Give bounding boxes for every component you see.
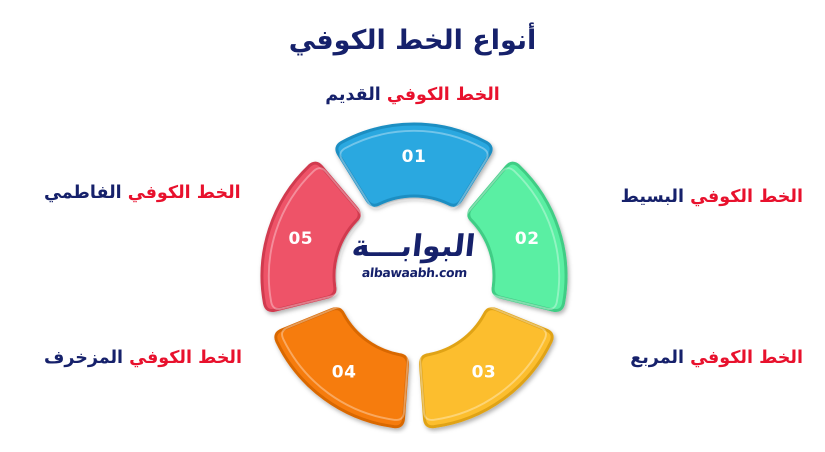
segment-label-03: الخط الكوفي المربع xyxy=(630,347,803,370)
donut-segment-number-02: 02 xyxy=(515,229,540,249)
donut-segments xyxy=(262,124,566,427)
infographic-canvas: أنواع الخط الكوفي الخط الكوفي القديم الخ… xyxy=(0,0,825,452)
segment-label-02-primary: الخط الكوفي xyxy=(690,187,803,207)
segment-label-04-secondary: المزخرف xyxy=(44,348,123,368)
donut-segment-number-01: 01 xyxy=(402,147,427,167)
donut-segment-number-04: 04 xyxy=(332,362,357,382)
segment-label-03-secondary: المربع xyxy=(630,348,684,368)
segment-label-05-primary: الخط الكوفي xyxy=(128,183,241,203)
segment-label-01: الخط الكوفي القديم xyxy=(0,84,825,107)
segment-label-05-secondary: الفاطمي xyxy=(44,183,122,203)
segment-label-01-primary: الخط الكوفي xyxy=(387,85,500,105)
segment-label-02: الخط الكوفي البسيط xyxy=(621,186,803,209)
page-title: أنواع الخط الكوفي xyxy=(0,24,825,58)
donut-chart: 0102030405 xyxy=(248,118,580,434)
segment-label-03-primary: الخط الكوفي xyxy=(690,348,803,368)
segment-label-01-secondary: القديم xyxy=(325,85,381,105)
segment-label-04-primary: الخط الكوفي xyxy=(129,348,242,368)
donut-segment-number-03: 03 xyxy=(472,362,497,382)
segment-label-04: الخط الكوفي المزخرف xyxy=(44,347,242,370)
segment-label-02-secondary: البسيط xyxy=(621,187,684,207)
segment-label-05: الخط الكوفي الفاطمي xyxy=(44,182,241,205)
donut-segment-number-05: 05 xyxy=(288,229,313,249)
donut-chart-svg: 0102030405 xyxy=(248,118,580,434)
